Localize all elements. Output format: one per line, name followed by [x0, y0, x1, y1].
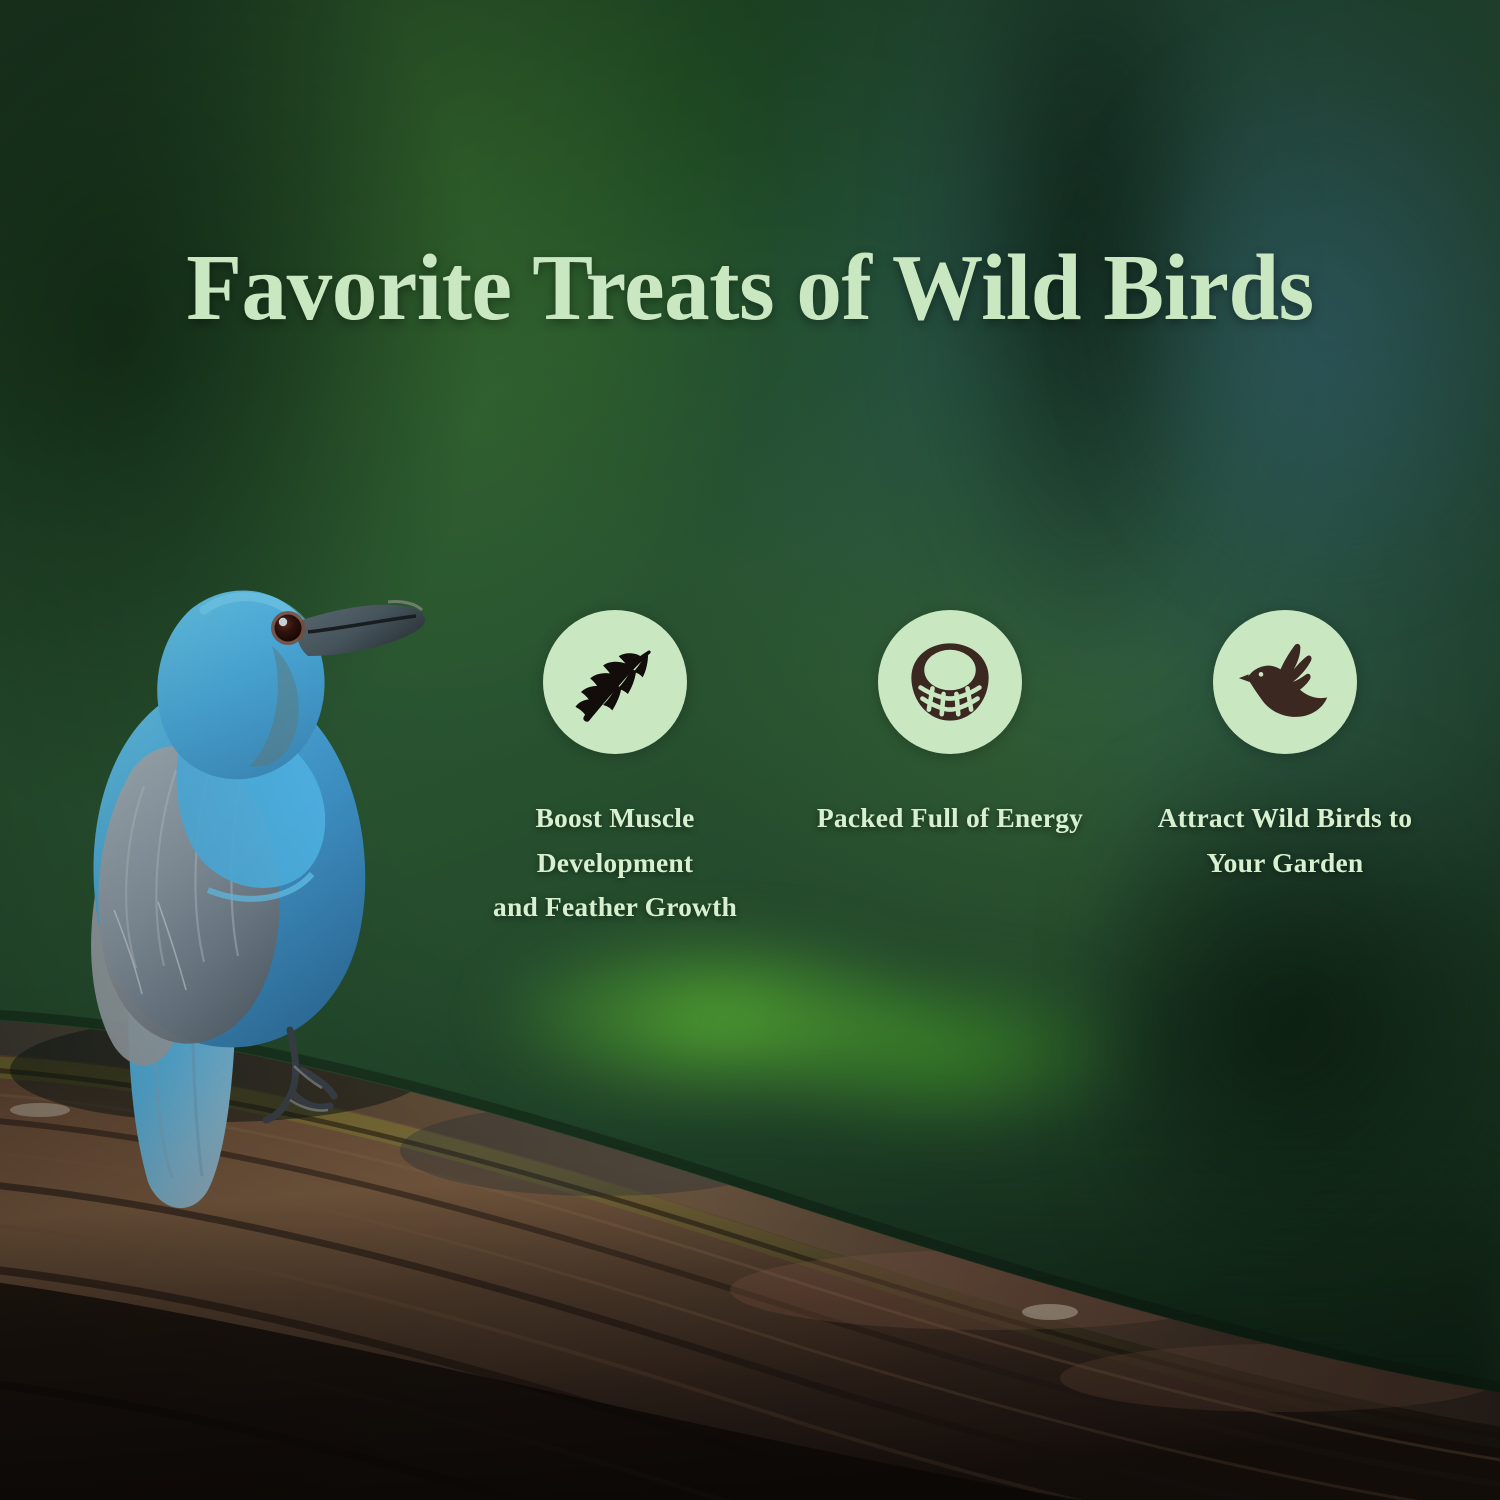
- page-title: Favorite Treats of Wild Birds: [23, 241, 1478, 335]
- feature-label-line: Attract Wild Birds to: [1158, 796, 1413, 841]
- feature-label-line: Packed Full of Energy: [817, 796, 1083, 841]
- feature-item-packed-energy: Packed Full of Energy: [805, 610, 1095, 841]
- feature-icon-badge: [878, 610, 1022, 754]
- feature-label: Packed Full of Energy: [817, 796, 1083, 841]
- flying-dove-icon: [1237, 634, 1333, 730]
- feature-item-attract-birds: Attract Wild Birds to Your Garden: [1140, 610, 1430, 885]
- feather-icon: [569, 636, 661, 728]
- product-lifestyle-banner: Favorite Treats of Wild Birds: [0, 0, 1500, 1500]
- feature-label: Boost Muscle Development and Feather Gro…: [493, 796, 737, 930]
- feature-label-line: Development: [493, 841, 737, 886]
- feature-icon-badge: [1213, 610, 1357, 754]
- feature-label-line: Boost Muscle: [493, 796, 737, 841]
- feature-list: Boost Muscle Development and Feather Gro…: [470, 610, 1430, 930]
- feature-label: Attract Wild Birds to Your Garden: [1158, 796, 1413, 885]
- feature-label-line: Your Garden: [1158, 841, 1413, 886]
- feature-item-boost-muscle: Boost Muscle Development and Feather Gro…: [470, 610, 760, 930]
- feature-icon-badge: [543, 610, 687, 754]
- bird-nest-icon: [904, 636, 996, 728]
- feature-label-line: and Feather Growth: [493, 885, 737, 930]
